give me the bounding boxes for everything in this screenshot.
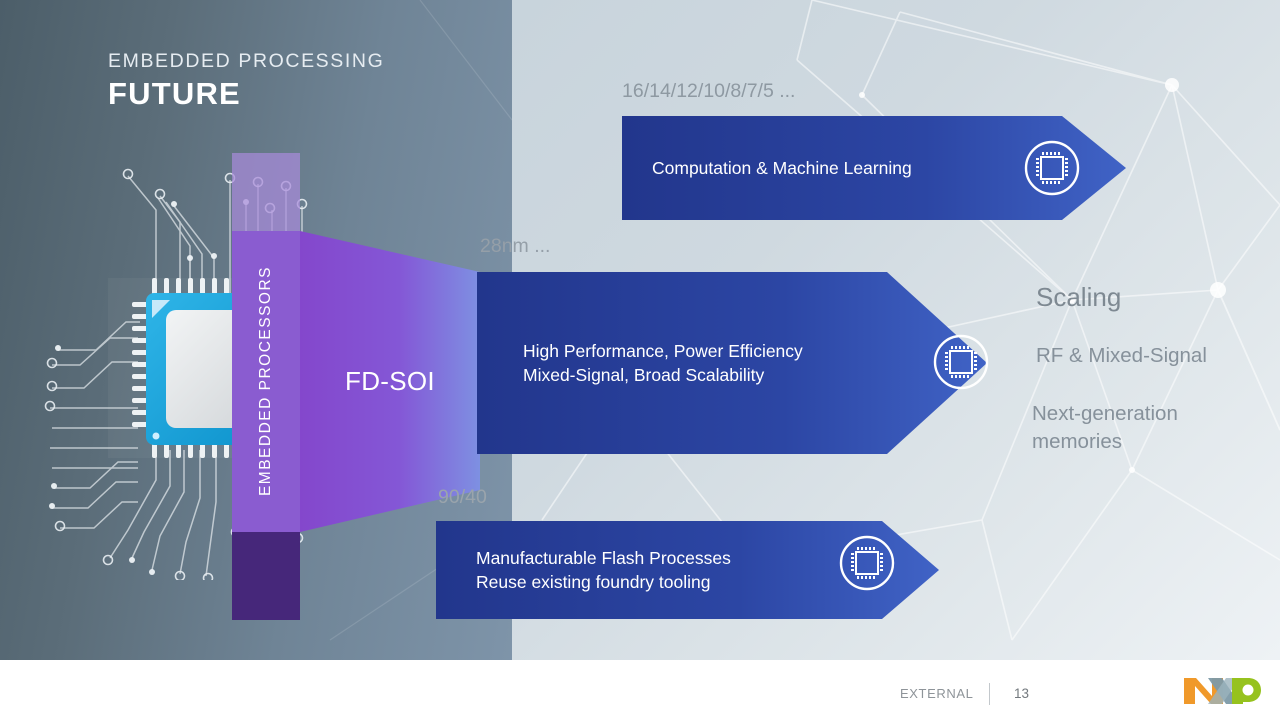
band-segment-bottom	[232, 532, 300, 620]
arrow-3-text: Manufacturable Flash Processes Reuse exi…	[476, 521, 731, 619]
chip-icon	[1023, 139, 1081, 197]
node-label-90-40: 90/40	[438, 486, 487, 509]
arrow-3-line-1: Manufacturable Flash Processes	[476, 546, 731, 570]
slide-canvas: EMBEDDED PROCESSING FUTURE EMBEDDED PROC…	[0, 0, 1280, 720]
node-label-28nm: 28nm ...	[480, 235, 550, 258]
footer-band	[0, 660, 1280, 720]
footer-divider	[989, 683, 990, 705]
footer-page-number: 13	[1014, 686, 1029, 701]
right-text-scaling: Scaling	[1036, 282, 1121, 313]
arrow-3-line-2: Reuse existing foundry tooling	[476, 570, 731, 594]
footer-classification: EXTERNAL	[900, 686, 973, 701]
page-title: FUTURE	[108, 76, 241, 112]
node-label-16-14-12: 16/14/12/10/8/7/5 ...	[622, 80, 795, 103]
chip-icon	[838, 534, 896, 592]
arrow-1-text: Computation & Machine Learning	[652, 116, 912, 220]
arrow-high-performance[interactable]: High Performance, Power Efficiency Mixed…	[477, 272, 987, 454]
embedded-processors-label: EMBEDDED PROCESSORS	[232, 231, 300, 532]
arrow-2-line-1: High Performance, Power Efficiency	[523, 339, 803, 363]
chip-icon	[932, 333, 990, 391]
band-segment-top	[232, 153, 300, 231]
right-text-next-gen-memories: Next-generation memories	[1032, 400, 1178, 456]
arrow-2-text: High Performance, Power Efficiency Mixed…	[523, 272, 803, 454]
slide-kicker: EMBEDDED PROCESSING	[108, 50, 384, 73]
nxp-logo	[1182, 674, 1262, 708]
arrow-2-line-2: Mixed-Signal, Broad Scalability	[523, 363, 803, 387]
right-text-rf-mixed-signal: RF & Mixed-Signal	[1036, 344, 1207, 368]
embedded-processors-text: EMBEDDED PROCESSORS	[257, 266, 275, 496]
